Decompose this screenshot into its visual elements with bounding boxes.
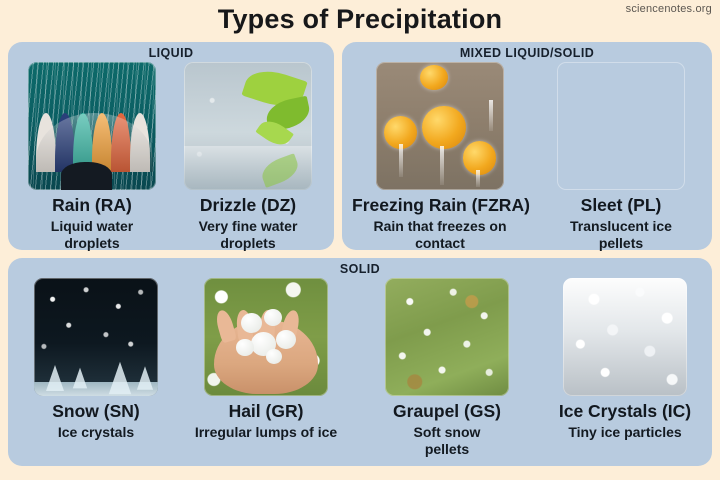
person-silhouette <box>61 162 112 190</box>
card-description: Rain that freezes on contact <box>360 218 520 251</box>
precipitation-card-graupel[interactable]: Graupel (GS) Soft snow pellets <box>372 278 522 457</box>
graupel-grass-photo <box>385 278 509 396</box>
drizzle-leaves-photo <box>184 62 312 190</box>
hail-hands-photo <box>204 278 328 396</box>
section-panel-mixed: MIXED LIQUID/SOLID Freezing Rain (FZRA) … <box>342 42 712 250</box>
card-name: Ice Crystals (IC) <box>546 402 704 421</box>
card-description: Ice crystals <box>20 424 172 441</box>
section-panel-liquid: LIQUID Rain (RA) Liquid water droplets D… <box>8 42 334 250</box>
snowy-tree <box>73 368 87 389</box>
card-description: Liquid water droplets <box>22 218 162 251</box>
card-name: Freezing Rain (FZRA) <box>352 196 528 215</box>
snowy-tree <box>137 367 153 390</box>
card-description: Tiny ice particles <box>546 424 704 441</box>
hailstone <box>236 339 253 356</box>
card-name: Hail (GR) <box>188 402 344 421</box>
page-title: Types of Precipitation <box>0 4 720 35</box>
precipitation-card-snow[interactable]: Snow (SN) Ice crystals <box>20 278 172 441</box>
infographic-root: sciencenotes.org Types of Precipitation … <box>0 0 720 480</box>
snow-forest-photo <box>34 278 158 396</box>
snowy-tree <box>109 362 132 395</box>
hailstone <box>276 330 296 349</box>
precipitation-card-hail[interactable]: Hail (GR) Irregular lumps of ice <box>188 278 344 441</box>
card-description: Translucent ice pellets <box>551 218 691 251</box>
precipitation-card-drizzle[interactable]: Drizzle (DZ) Very fine water droplets <box>176 62 320 251</box>
icicle <box>399 144 403 177</box>
freezing-rain-berries-photo <box>376 62 504 190</box>
precipitation-card-ice-crystals[interactable]: Ice Crystals (IC) Tiny ice particles <box>546 278 704 441</box>
card-description: Irregular lumps of ice <box>192 424 340 441</box>
icicle <box>489 100 493 131</box>
card-description: Soft snow pellets <box>392 424 502 457</box>
snowy-tree <box>46 365 64 391</box>
card-name: Rain (RA) <box>22 196 162 215</box>
card-name: Graupel (GS) <box>372 402 522 421</box>
card-name: Sleet (PL) <box>542 196 700 215</box>
section-panel-solid: SOLID Snow (SN) Ice crystals <box>8 258 712 466</box>
precipitation-card-freezing-rain[interactable]: Freezing Rain (FZRA) Rain that freezes o… <box>352 62 528 251</box>
icicle <box>476 170 480 188</box>
precipitation-card-rain[interactable]: Rain (RA) Liquid water droplets <box>22 62 162 251</box>
card-name: Snow (SN) <box>20 402 172 421</box>
card-description: Very fine water droplets <box>176 218 320 251</box>
icicle <box>440 146 444 184</box>
section-header-liquid: LIQUID <box>8 46 334 60</box>
iced-berry <box>422 106 466 150</box>
iced-berry <box>420 65 448 91</box>
precipitation-card-sleet[interactable]: Sleet (PL) Translucent ice pellets <box>542 62 700 251</box>
section-header-solid: SOLID <box>8 262 712 276</box>
card-name: Drizzle (DZ) <box>176 196 320 215</box>
rain-umbrella-photo <box>28 62 156 190</box>
section-header-mixed: MIXED LIQUID/SOLID <box>342 46 712 60</box>
finger <box>214 309 237 344</box>
sleet-pellets-photo <box>557 62 685 190</box>
ice-crystals-photo <box>563 278 687 396</box>
